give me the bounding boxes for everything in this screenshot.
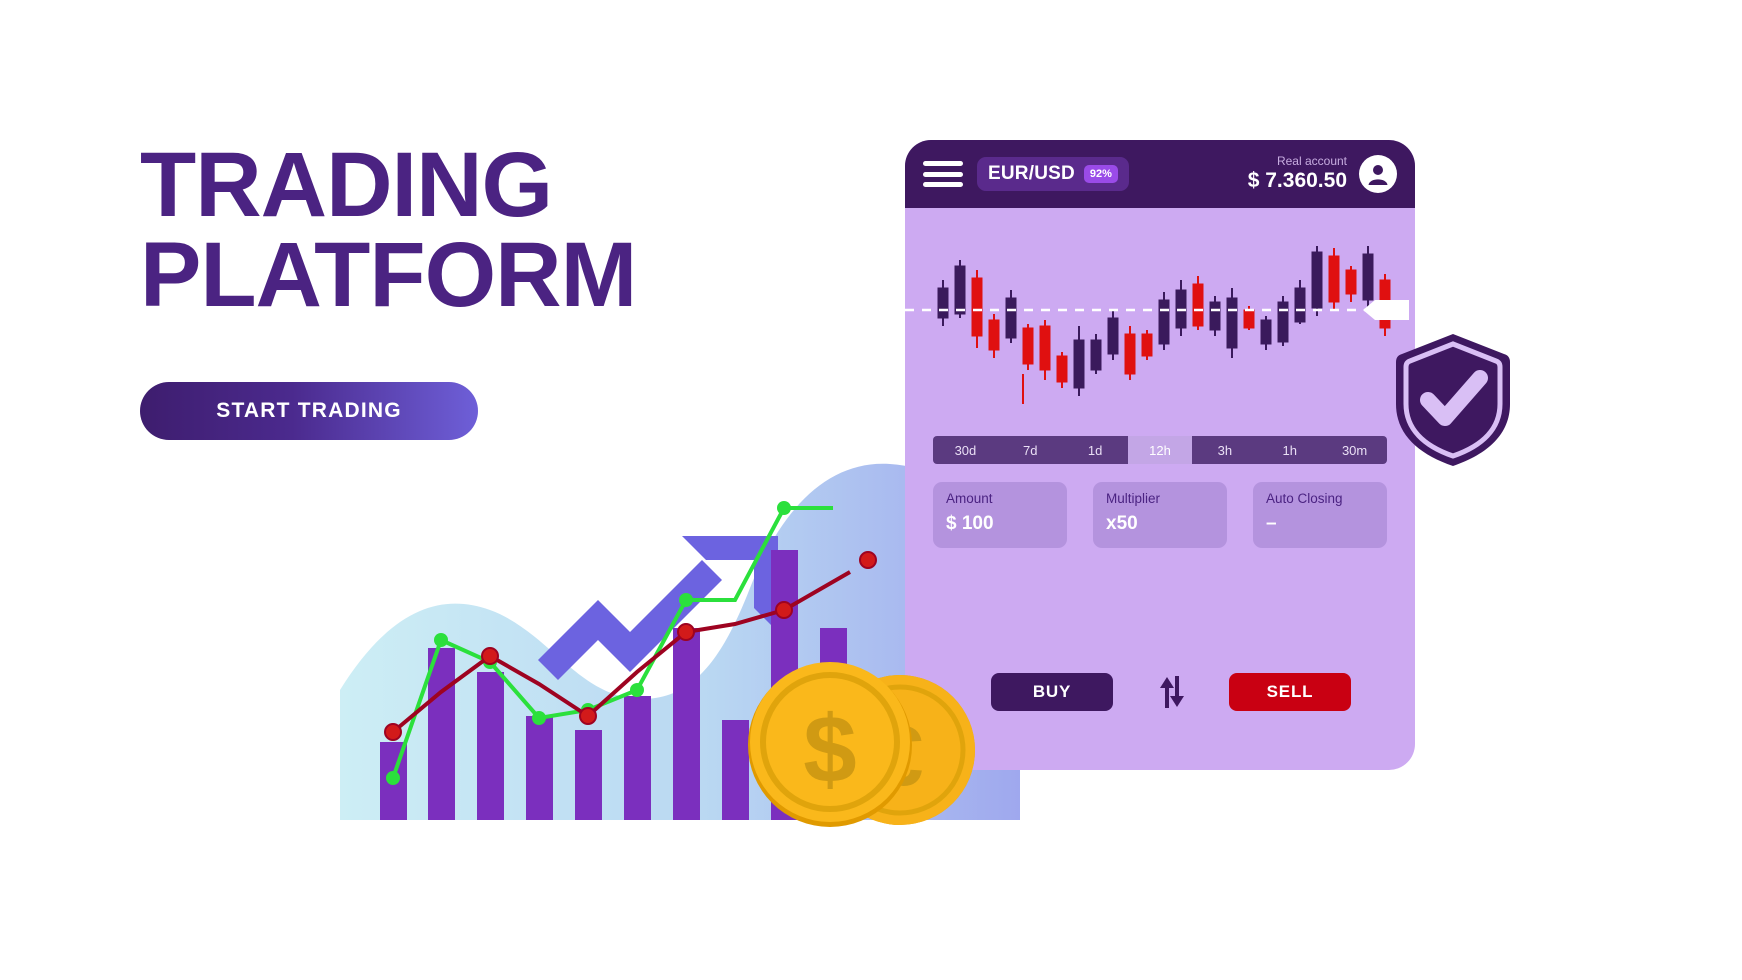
account-type-label: Real account xyxy=(1248,154,1347,169)
data-point xyxy=(482,648,498,664)
bar xyxy=(673,628,700,820)
timeframe-3h[interactable]: 3h xyxy=(1192,436,1257,464)
auto-closing-card[interactable]: Auto Closing – xyxy=(1253,482,1387,548)
auto-closing-label: Auto Closing xyxy=(1266,491,1374,506)
bar xyxy=(624,696,651,820)
data-point xyxy=(860,552,876,568)
data-point xyxy=(532,711,546,725)
payout-badge: 92% xyxy=(1084,165,1118,183)
timeframe-1d[interactable]: 1d xyxy=(1063,436,1128,464)
currency-pair-label: EUR/USD xyxy=(988,163,1075,185)
multiplier-value: x50 xyxy=(1106,513,1214,535)
timeframe-30d[interactable]: 30d xyxy=(933,436,998,464)
sell-button[interactable]: SELL xyxy=(1229,673,1351,711)
currency-pair-selector[interactable]: EUR/USD 92% xyxy=(977,157,1129,191)
timeframe-selector[interactable]: 30d 7d 1d 12h 3h 1h 30m xyxy=(933,436,1387,464)
dollar-coin-icon: $ xyxy=(748,662,912,827)
data-point xyxy=(678,624,694,640)
illustration-stage: TRADING PLATFORM START TRADING xyxy=(0,0,1742,980)
data-point xyxy=(386,771,400,785)
coins-group: € $ xyxy=(735,645,1005,845)
amount-label: Amount xyxy=(946,491,1054,506)
timeframe-1h[interactable]: 1h xyxy=(1257,436,1322,464)
candlestick-chart xyxy=(905,218,1415,418)
start-trading-button[interactable]: START TRADING xyxy=(140,382,478,440)
data-point xyxy=(385,724,401,740)
hero-section: TRADING PLATFORM START TRADING xyxy=(140,140,760,440)
svg-text:$: $ xyxy=(803,696,856,803)
data-point xyxy=(580,708,596,724)
data-point xyxy=(434,633,448,647)
swap-arrows-icon[interactable] xyxy=(1151,672,1191,712)
buy-button[interactable]: BUY xyxy=(991,673,1113,711)
amount-card[interactable]: Amount $ 100 xyxy=(933,482,1067,548)
data-point xyxy=(679,593,693,607)
title-line-1: TRADING xyxy=(140,134,552,236)
hamburger-menu-icon[interactable] xyxy=(923,161,963,187)
price-marker-tag xyxy=(1363,300,1409,320)
account-balance: $ 7.360.50 xyxy=(1248,169,1347,193)
data-point xyxy=(777,501,791,515)
bar xyxy=(526,716,553,820)
account-text: Real account $ 7.360.50 xyxy=(1248,154,1347,193)
bar xyxy=(575,730,602,820)
multiplier-label: Multiplier xyxy=(1106,491,1214,506)
bar xyxy=(428,648,455,820)
timeframe-12h[interactable]: 12h xyxy=(1128,436,1193,464)
data-point xyxy=(630,683,644,697)
trade-actions: BUY SELL xyxy=(991,672,1351,712)
multiplier-card[interactable]: Multiplier x50 xyxy=(1093,482,1227,548)
timeframe-30m[interactable]: 30m xyxy=(1322,436,1387,464)
title-line-2: PLATFORM xyxy=(140,230,760,320)
auto-closing-value: – xyxy=(1266,513,1374,535)
amount-value: $ 100 xyxy=(946,513,1054,535)
panel-topbar: EUR/USD 92% Real account $ 7.360.50 xyxy=(905,140,1415,208)
shield-check-icon xyxy=(1392,330,1514,470)
page-title: TRADING PLATFORM xyxy=(140,140,760,320)
bar xyxy=(477,672,504,820)
candles-group xyxy=(938,246,1390,404)
account-summary[interactable]: Real account $ 7.360.50 xyxy=(1248,154,1397,193)
user-avatar-icon[interactable] xyxy=(1359,155,1397,193)
trade-parameters: Amount $ 100 Multiplier x50 Auto Closing… xyxy=(933,482,1387,548)
data-point xyxy=(776,602,792,618)
timeframe-7d[interactable]: 7d xyxy=(998,436,1063,464)
